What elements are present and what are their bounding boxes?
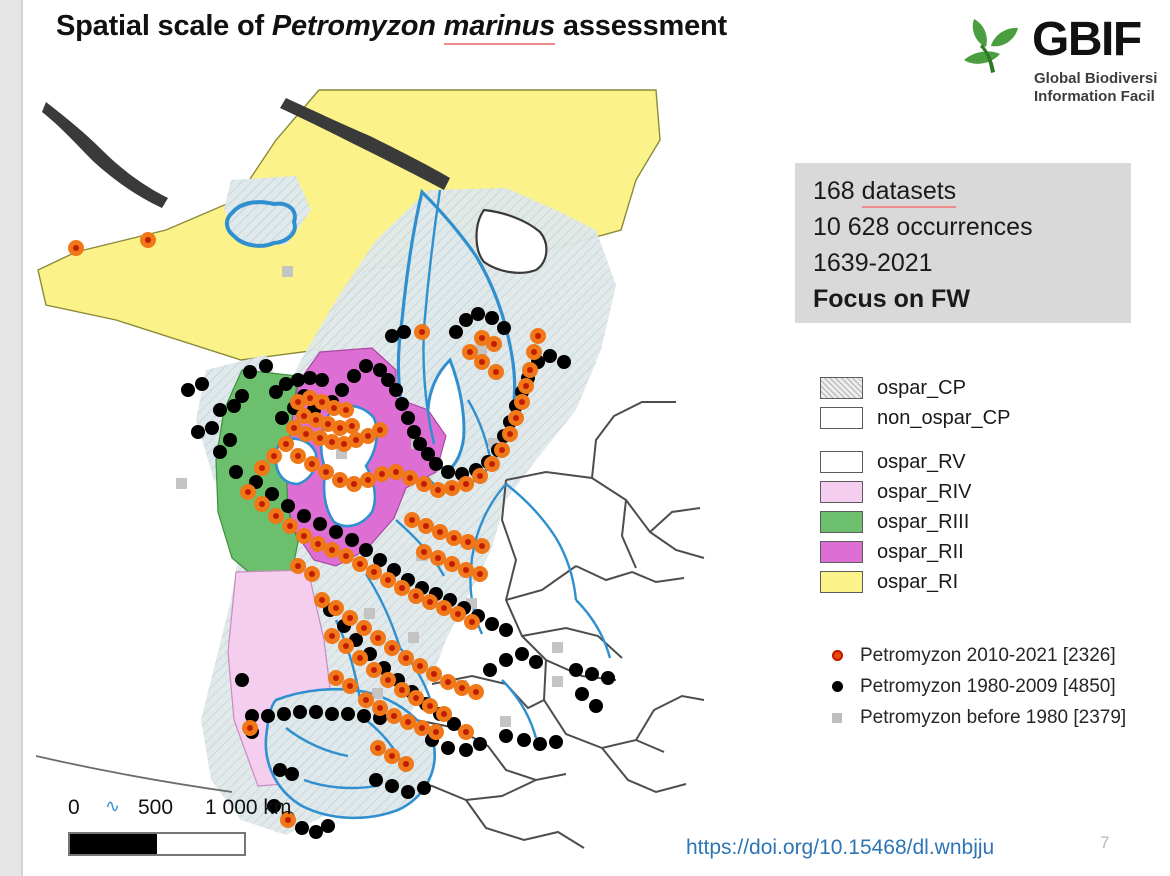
page-title: Spatial scale of Petromyzon marinus asse… <box>56 10 916 43</box>
gbif-tagline-line2: Information Facil <box>1034 88 1157 106</box>
legend-item-ospar-riv: ospar_RIV <box>820 477 1150 507</box>
title-suffix: assessment <box>555 10 727 42</box>
legend-item-ospar-cp: ospar_CP <box>820 373 1150 403</box>
legend-label: Petromyzon 2010-2021 [2326] <box>860 645 1116 667</box>
map-figure <box>36 80 706 870</box>
gbif-tagline: Global Biodiversi Information Facil <box>1034 70 1157 106</box>
swatch-ospar-riii <box>820 511 863 533</box>
title-space <box>436 10 444 42</box>
legend-label: Petromyzon 1980-2009 [4850] <box>860 676 1116 698</box>
legend-label: ospar_RII <box>877 541 964 564</box>
swatch-ospar-rii <box>820 541 863 563</box>
info-occurrences: 10 628 occurrences <box>813 209 1131 245</box>
info-datasets-word: datasets <box>862 177 957 208</box>
swatch-ospar-cp <box>820 377 863 399</box>
swatch-ospar-riv <box>820 481 863 503</box>
black-dot-icon <box>824 681 850 692</box>
occurrence-legend: Petromyzon 2010-2021 [2326] Petromyzon 1… <box>824 640 1170 733</box>
scale-label-mid: 500 <box>138 796 173 820</box>
swatch-ospar-ri <box>820 571 863 593</box>
gbif-logo: GBIF Global Biodiversi Information Facil <box>960 8 1170 126</box>
map-canvas <box>36 80 706 870</box>
orange-dot-icon <box>824 650 850 661</box>
legend-label: ospar_RV <box>877 451 966 474</box>
polygon-legend: ospar_CP non_ospar_CP ospar_RV ospar_RIV… <box>820 373 1150 597</box>
slide-canvas: Spatial scale of Petromyzon marinus asse… <box>0 0 1170 876</box>
swatch-non-ospar-cp <box>820 407 863 429</box>
title-prefix: Spatial scale of <box>56 10 272 42</box>
gbif-tagline-line1: Global Biodiversi <box>1034 70 1157 88</box>
summary-info-box: 168 datasets 10 628 occurrences 1639-202… <box>795 163 1131 323</box>
gray-square-icon <box>824 713 850 723</box>
slide-left-margin <box>0 0 21 876</box>
legend-label: non_ospar_CP <box>877 407 1010 430</box>
page-number: 7 <box>1100 833 1109 853</box>
legend-item-ospar-ri: ospar_RI <box>820 567 1150 597</box>
scale-segment-light <box>157 834 244 854</box>
legend-item-ospar-riii: ospar_RIII <box>820 507 1150 537</box>
scale-bar-labels: 0 ∿ 500 1 000 km <box>60 796 320 824</box>
water-wave-icon: ∿ <box>105 796 120 817</box>
legend-item-ospar-rii: ospar_RII <box>820 537 1150 567</box>
map-scale-bar: 0 ∿ 500 1 000 km <box>60 796 320 866</box>
legend-label: Petromyzon before 1980 [2379] <box>860 707 1126 729</box>
scale-bar-graphic <box>68 832 246 856</box>
legend-label: ospar_RIII <box>877 511 969 534</box>
swatch-ospar-rv <box>820 451 863 473</box>
legend-label: ospar_RI <box>877 571 958 594</box>
legend-item-ospar-rv: ospar_RV <box>820 447 1150 477</box>
scale-segment-dark <box>70 834 157 854</box>
info-datasets: 168 datasets <box>813 173 1131 209</box>
doi-link[interactable]: https://doi.org/10.15468/dl.wnbjju <box>686 836 994 860</box>
title-genus: Petromyzon <box>272 10 436 42</box>
legend-item-occurrences-2010-2021: Petromyzon 2010-2021 [2326] <box>824 640 1170 671</box>
info-year-range: 1639-2021 <box>813 245 1131 281</box>
gbif-leaf-icon <box>960 16 1030 82</box>
title-species: marinus <box>444 10 555 45</box>
gbif-wordmark: GBIF <box>1032 14 1141 66</box>
iceland-shape <box>227 202 295 246</box>
legend-item-occurrences-before-1980: Petromyzon before 1980 [2379] <box>824 702 1170 733</box>
legend-item-non-ospar-cp: non_ospar_CP <box>820 403 1150 433</box>
scale-label-max: 1 000 km <box>205 796 291 820</box>
legend-item-occurrences-1980-2009: Petromyzon 1980-2009 [4850] <box>824 671 1170 702</box>
slide-margin-divider <box>21 0 23 876</box>
legend-label: ospar_CP <box>877 377 966 400</box>
scale-label-zero: 0 <box>68 796 80 820</box>
info-focus: Focus on FW <box>813 281 1131 317</box>
legend-label: ospar_RIV <box>877 481 972 504</box>
info-datasets-number: 168 <box>813 177 855 205</box>
